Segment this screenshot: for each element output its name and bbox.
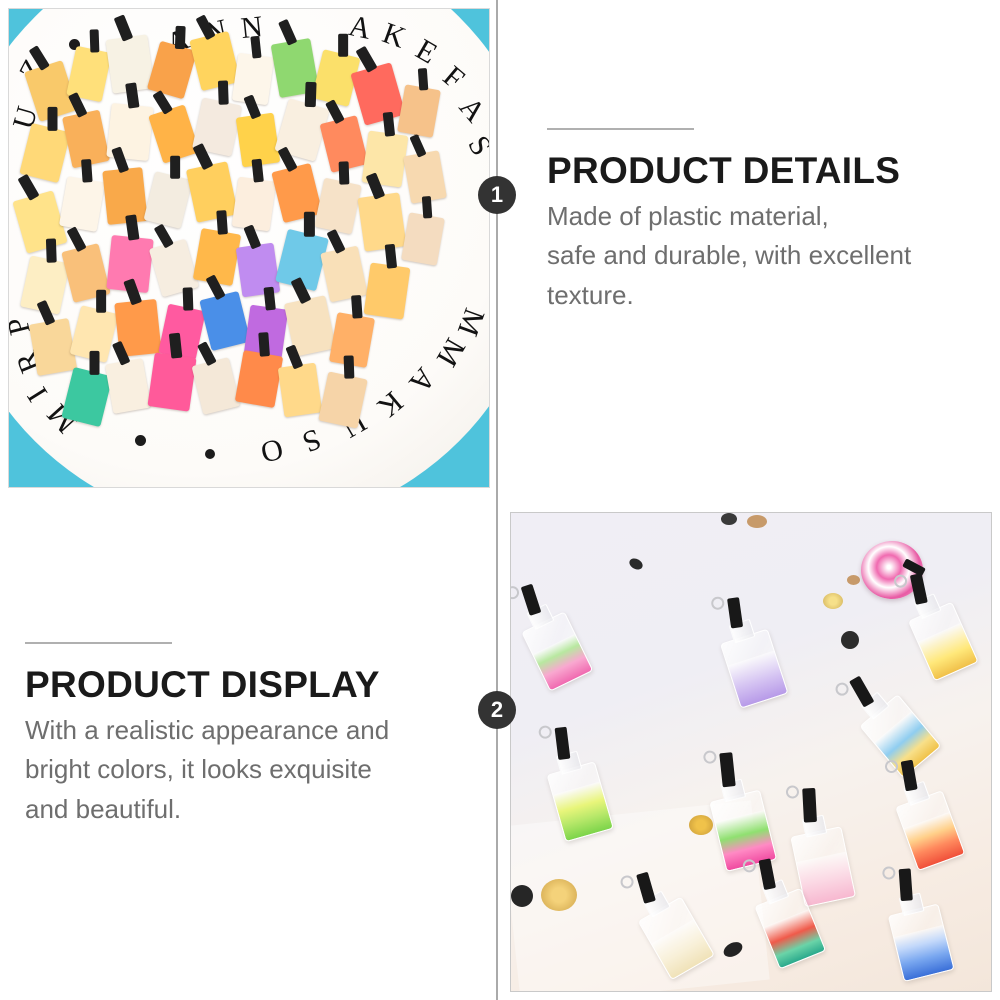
charm [61,367,112,427]
charm [401,212,445,266]
vertical-divider [496,0,498,1000]
infographic-canvas: Z U P R I M A N N A K E F A S M M A K U … [0,0,1000,1000]
step-badge-1-number: 1 [491,184,503,206]
charm [357,192,406,251]
accent-line [547,128,694,130]
step-badge-2: 2 [478,691,516,729]
charm [232,177,277,232]
charm [271,163,322,223]
speck [847,575,860,585]
charm [397,84,441,138]
charm [192,357,241,415]
charm [105,358,151,414]
charm [193,228,241,286]
accent-line [25,642,172,644]
charms-on-plate-photo: Z U P R I M A N N A K E F A S M M A K U … [8,8,490,488]
charm [314,178,362,235]
charm [147,352,196,411]
product-display-heading: PRODUCT DISPLAY [25,666,455,705]
step-badge-2-number: 2 [491,699,503,721]
body-line: With a realistic appearance and [25,715,389,745]
gold-disc [689,815,713,835]
gold-disc [541,879,577,911]
product-display-block: PRODUCT DISPLAY With a realistic appeara… [25,642,455,829]
charm [144,171,193,229]
scattered-charms-photo [510,512,992,992]
speck [721,513,737,525]
body-line: and beautiful. [25,794,181,824]
charm [59,176,105,232]
charm [186,161,238,223]
bottle-fill [797,852,855,906]
charm [318,371,368,428]
charm [199,291,250,351]
charm-pile [9,9,490,488]
product-details-body: Made of plastic material, safe and durab… [547,197,967,316]
body-line: Made of plastic material, [547,201,829,231]
bottle-cap [899,868,913,901]
body-line: bright colors, it looks exquisite [25,754,372,784]
bottle-cap [802,788,817,823]
gold-disc [823,593,843,609]
speck [841,631,859,649]
product-details-block: PRODUCT DETAILS Made of plastic material… [547,128,967,315]
charm [189,31,240,91]
charm [320,246,368,303]
speck [747,515,767,528]
charm [278,363,323,418]
charm [235,350,283,408]
step-badge-1: 1 [478,176,516,214]
charm [158,304,206,361]
product-display-body: With a realistic appearance and bright c… [25,711,455,830]
charm [364,262,411,319]
product-details-heading: PRODUCT DETAILS [547,152,967,191]
body-line: safe and durable, with excellent [547,240,911,270]
speck [511,885,533,907]
body-line: texture. [547,280,634,310]
charm [147,41,197,100]
charm [350,62,405,125]
